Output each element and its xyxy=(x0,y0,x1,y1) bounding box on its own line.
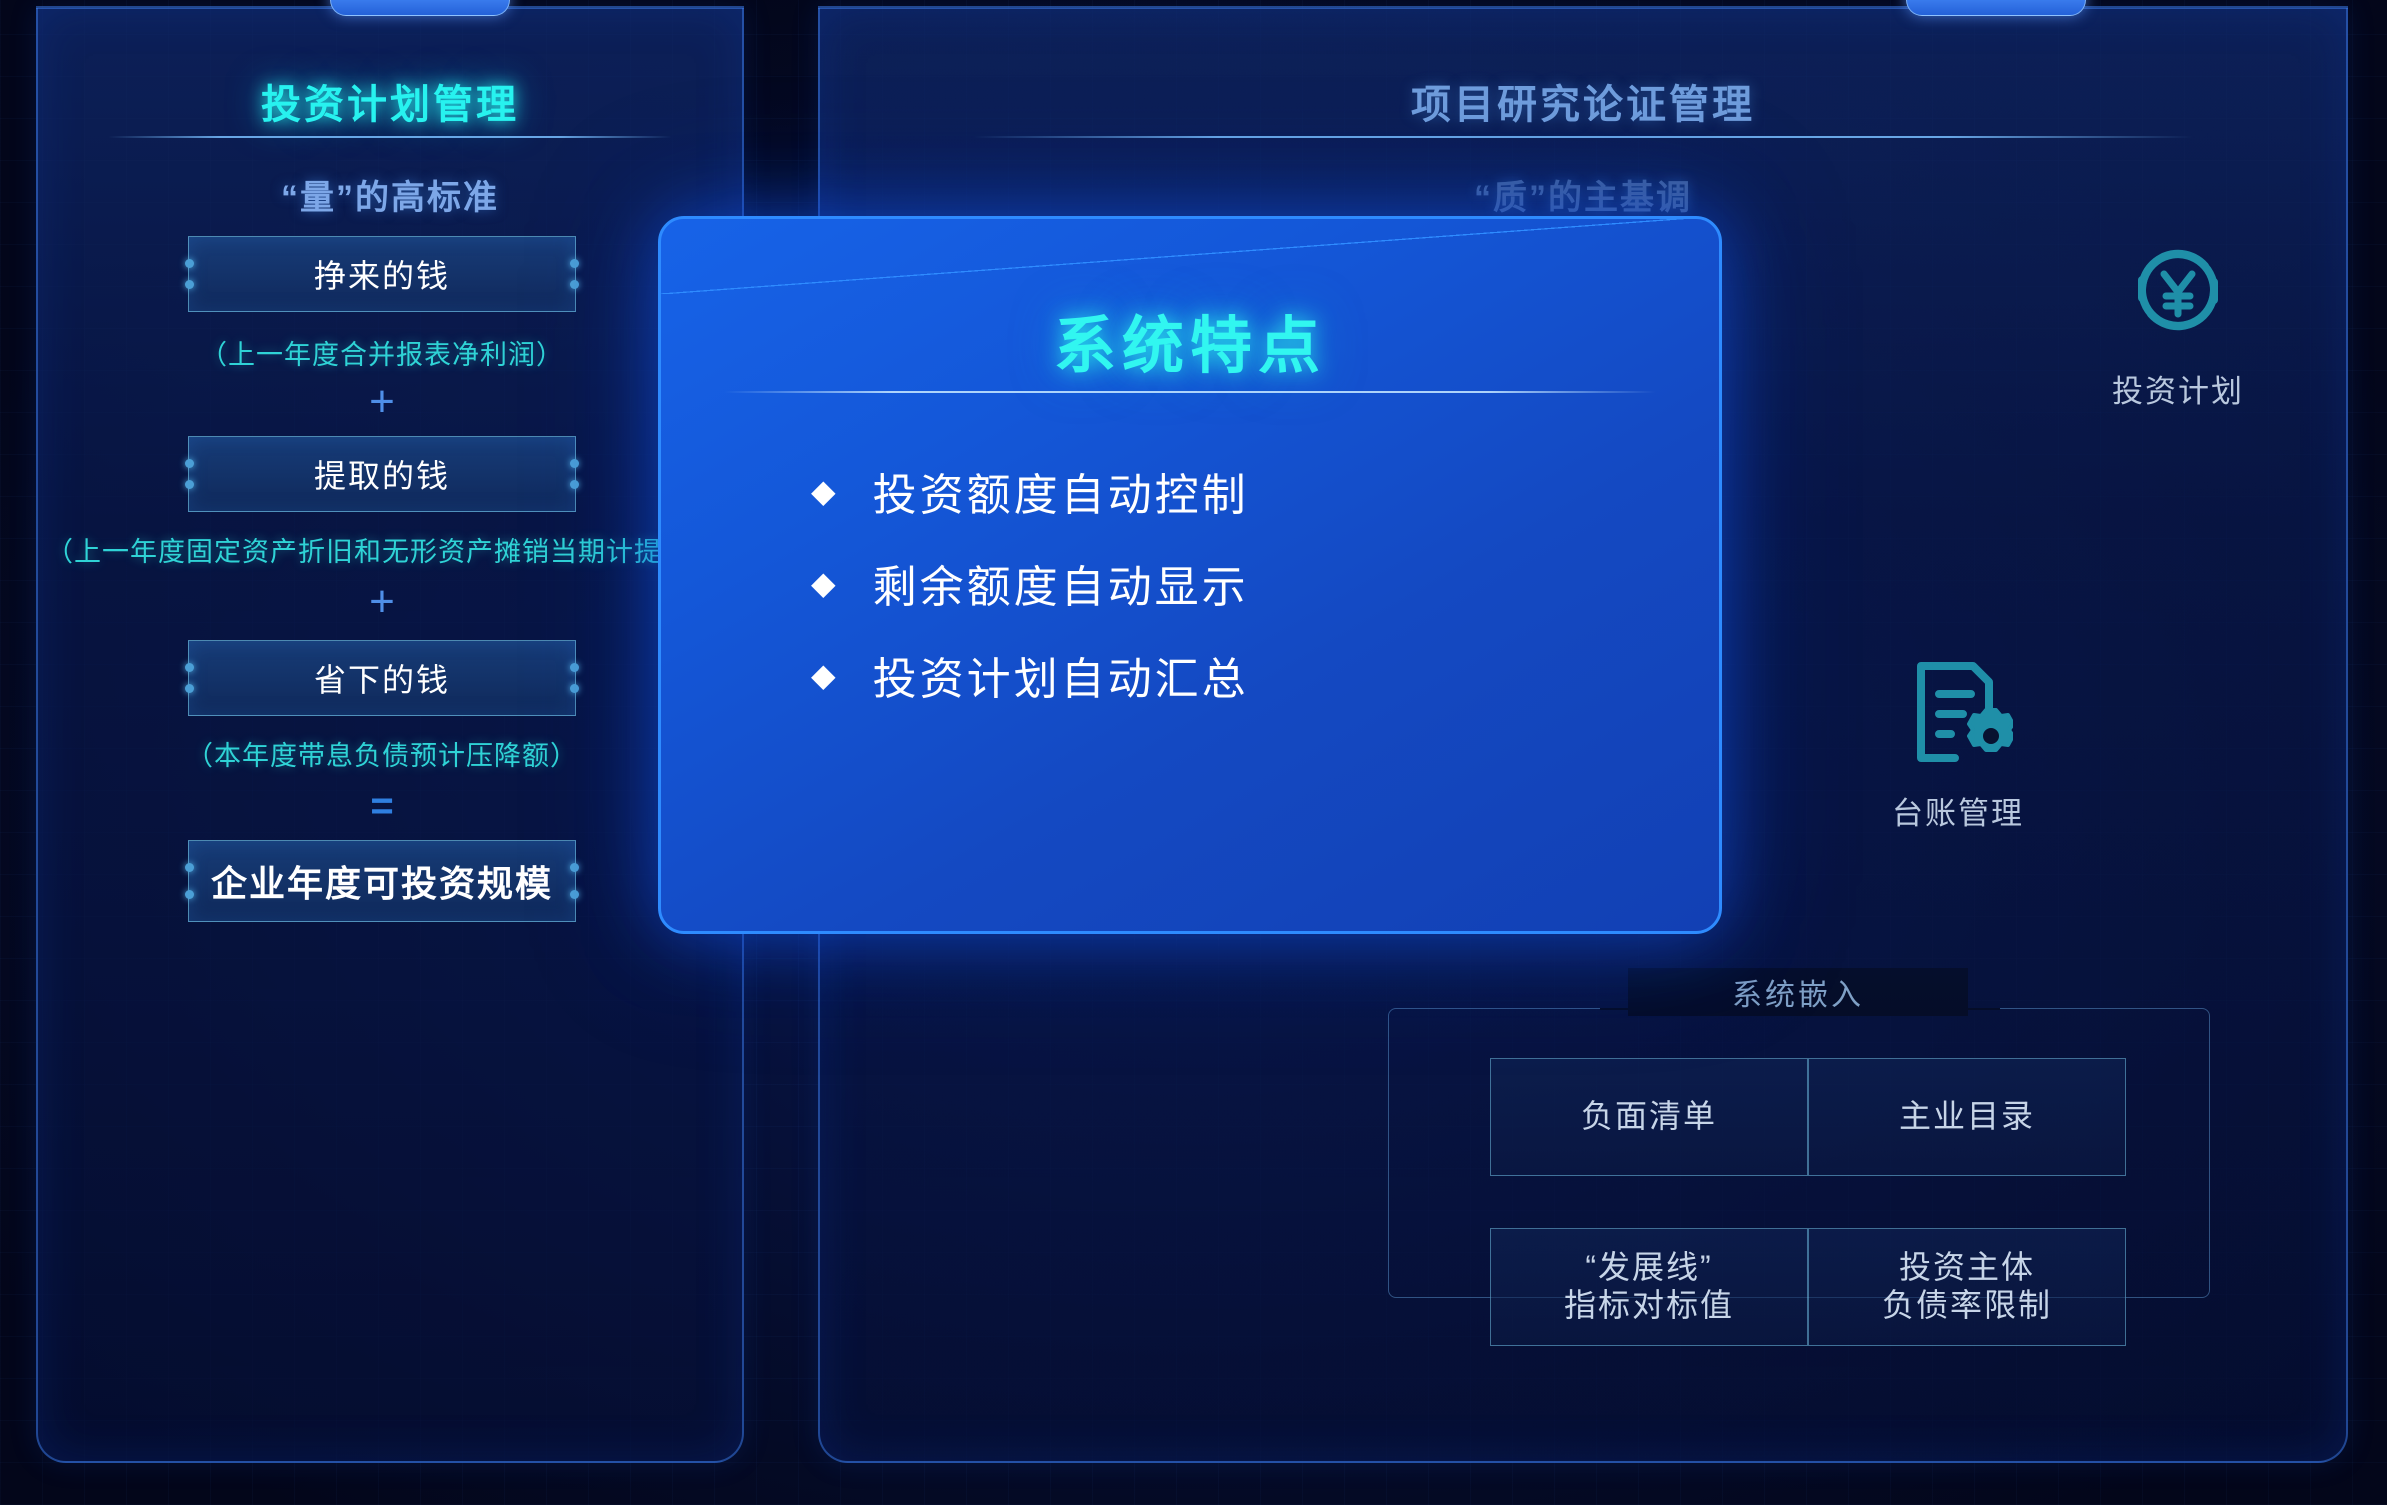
card-title: 系统特点 xyxy=(661,295,1719,385)
node-dot xyxy=(185,684,194,693)
folder-tab-right[interactable] xyxy=(1906,0,2086,16)
flow-operator-equals: = xyxy=(38,786,726,826)
folder-tab-left[interactable] xyxy=(330,0,510,16)
panel-left-subtitle: “量”的高标准 xyxy=(38,170,742,219)
flow-box-label: 企业年度可投资规模 xyxy=(211,855,553,907)
embed-cell-line: 主业目录 xyxy=(1899,1098,2035,1136)
flow-box-annual-investable-scale[interactable]: 企业年度可投资规模 xyxy=(188,840,576,922)
system-features-card[interactable]: 系统特点 ◆ 投资额度自动控制 ◆ 剩余额度自动显示 ◆ 投资计划自动汇总 xyxy=(658,216,1722,934)
icon-label: 投资计划 xyxy=(2063,366,2293,411)
node-dot xyxy=(570,863,579,872)
panel-right-title: 项目研究论证管理 xyxy=(820,72,2346,130)
panel-right-divider xyxy=(973,136,2194,138)
feature-item[interactable]: ◆ 投资额度自动控制 xyxy=(811,459,1611,523)
icon-cell-ledger-management[interactable]: 台账管理 xyxy=(1843,648,2073,833)
node-dot xyxy=(570,459,579,468)
node-dot xyxy=(570,890,579,899)
feature-item[interactable]: ◆ 投资计划自动汇总 xyxy=(811,643,1611,707)
card-divider xyxy=(724,391,1655,393)
panel-investment-plan: 投资计划管理 “量”的高标准 挣来的钱 （上一年度合并报表净利润） + 提取的钱… xyxy=(36,8,744,1463)
diamond-bullet-icon: ◆ xyxy=(811,659,839,691)
flow-operator-plus-1: + xyxy=(38,380,726,424)
embed-cell-line: 负债率限制 xyxy=(1882,1287,2052,1325)
embed-cell-investor-debt-limit[interactable]: 投资主体 负债率限制 xyxy=(1808,1228,2126,1346)
node-dot xyxy=(185,459,194,468)
flow-box-earned-money[interactable]: 挣来的钱 xyxy=(188,236,576,312)
document-gear-icon xyxy=(1843,648,2073,776)
flow-caption-withdrawn-money: （上一年度固定资产折旧和无形资产摊销当期计提额） xyxy=(38,530,726,569)
flow-box-label: 省下的钱 xyxy=(314,655,450,701)
yen-refresh-icon xyxy=(2063,226,2293,354)
system-embed-label: 系统嵌入 xyxy=(1628,968,1968,1016)
slide-canvas: 投资计划管理 “量”的高标准 挣来的钱 （上一年度合并报表净利润） + 提取的钱… xyxy=(0,0,2387,1505)
node-dot xyxy=(570,280,579,289)
flow-operator-plus-2: + xyxy=(38,580,726,624)
feature-item[interactable]: ◆ 剩余额度自动显示 xyxy=(811,551,1611,615)
flow-caption-saved-money: （本年度带息负债预计压降额） xyxy=(38,734,726,773)
diamond-bullet-icon: ◆ xyxy=(811,475,839,507)
node-dot xyxy=(185,259,194,268)
node-dot xyxy=(185,280,194,289)
feature-label: 投资额度自动控制 xyxy=(873,459,1249,523)
feature-label: 投资计划自动汇总 xyxy=(873,643,1249,707)
panel-right-top-edge xyxy=(818,6,2348,9)
embed-cell-development-line[interactable]: “发展线” 指标对标值 xyxy=(1490,1228,1808,1346)
node-dot xyxy=(570,259,579,268)
embed-cell-line: 投资主体 xyxy=(1899,1249,2035,1287)
panel-left-title: 投资计划管理 xyxy=(38,72,742,130)
embed-cell-negative-list[interactable]: 负面清单 xyxy=(1490,1058,1808,1176)
node-dot xyxy=(570,663,579,672)
diamond-bullet-icon: ◆ xyxy=(811,567,839,599)
panel-right-subtitle: “质”的主基调 xyxy=(820,170,2346,219)
node-dot xyxy=(185,890,194,899)
node-dot xyxy=(185,863,194,872)
feature-list: ◆ 投资额度自动控制 ◆ 剩余额度自动显示 ◆ 投资计划自动汇总 xyxy=(811,459,1611,735)
embed-cell-line: “发展线” xyxy=(1585,1249,1712,1287)
node-dot xyxy=(185,480,194,489)
node-dot xyxy=(570,684,579,693)
flow-box-withdrawn-money[interactable]: 提取的钱 xyxy=(188,436,576,512)
panel-left-divider xyxy=(108,136,671,138)
node-dot xyxy=(570,480,579,489)
embed-cell-line: 负面清单 xyxy=(1581,1098,1717,1136)
icon-cell-investment-plan[interactable]: 投资计划 xyxy=(2063,226,2293,411)
embed-cell-main-business-catalog[interactable]: 主业目录 xyxy=(1808,1058,2126,1176)
flow-box-label: 提取的钱 xyxy=(314,451,450,497)
node-dot xyxy=(185,663,194,672)
icon-label: 台账管理 xyxy=(1843,788,2073,833)
flow-box-label: 挣来的钱 xyxy=(314,251,450,297)
feature-label: 剩余额度自动显示 xyxy=(873,551,1249,615)
embed-cell-line: 指标对标值 xyxy=(1564,1287,1734,1325)
flow-caption-earned-money: （上一年度合并报表净利润） xyxy=(38,333,726,372)
flow-box-saved-money[interactable]: 省下的钱 xyxy=(188,640,576,716)
